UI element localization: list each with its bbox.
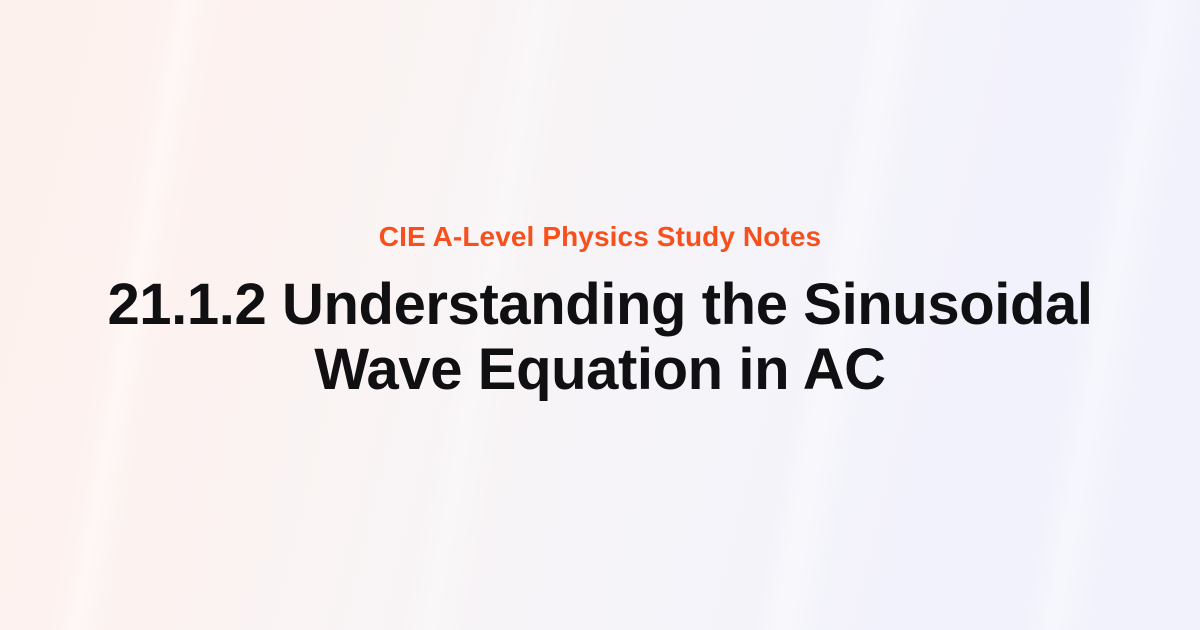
banner-headline-title: 21.1.2 Understanding the Sinusoidal Wave… [90, 272, 1110, 402]
study-notes-banner-card: CIE A-Level Physics Study Notes 21.1.2 U… [0, 0, 1200, 630]
banner-content: CIE A-Level Physics Study Notes 21.1.2 U… [60, 220, 1140, 401]
banner-eyebrow-subtitle: CIE A-Level Physics Study Notes [60, 220, 1140, 254]
